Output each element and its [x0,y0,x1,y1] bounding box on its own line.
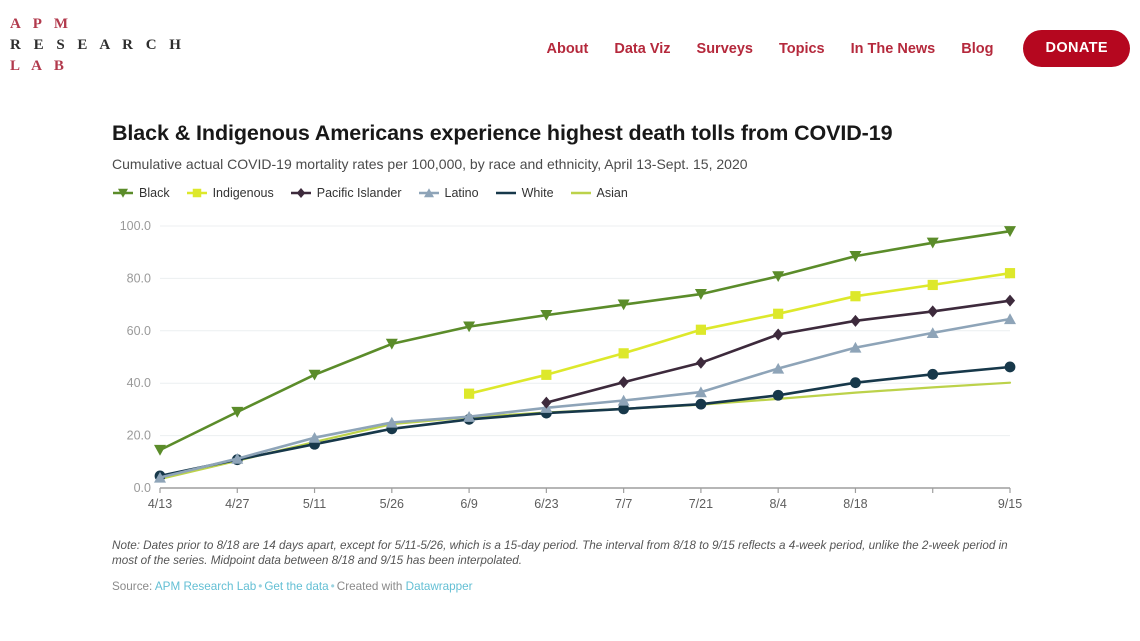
y-axis-tick-label: 100.0 [120,219,151,233]
series-line [160,319,1010,478]
source-link-datawrapper[interactable]: Datawrapper [406,580,473,593]
logo-line-apm: A P M [10,14,185,35]
x-axis-tick-label: 8/4 [769,497,786,511]
chart-subtitle: Cumulative actual COVID-19 mortality rat… [112,155,1028,173]
y-axis-tick-label: 80.0 [127,271,151,285]
data-point-marker [850,377,861,388]
legend-item-asian[interactable]: Asian [570,186,628,200]
legend-marker-triangle-down-icon [112,187,134,199]
x-axis-tick-label: 8/18 [843,497,867,511]
legend-marker-diamond-icon [290,187,312,199]
legend-label: White [522,186,554,200]
legend-label: Asian [597,186,628,200]
x-axis-tick-label: 5/11 [303,497,326,511]
chart-note: Note: Dates prior to 8/18 are 14 days ap… [112,538,1012,568]
legend-item-black[interactable]: Black [112,186,170,200]
x-axis-tick-label: 5/26 [380,497,404,511]
data-point-marker [619,348,629,358]
data-point-marker [696,325,706,335]
y-axis-tick-label: 0.0 [134,481,151,495]
series-line [160,383,1010,479]
legend-marker-none-icon [570,187,592,199]
x-axis-tick-label: 9/15 [998,497,1022,511]
nav-item-data-viz[interactable]: Data Viz [614,41,670,57]
data-point-marker [928,280,938,290]
chart-block: Black & Indigenous Americans experience … [112,120,1028,604]
main-navigation: About Data Viz Surveys Topics In The New… [547,30,1131,67]
source-prefix: Source: [112,580,152,593]
series-white [155,362,1016,482]
site-logo[interactable]: A P M R E S E A R C H L A B [10,14,185,77]
nav-item-about[interactable]: About [547,41,589,57]
data-point-marker [154,445,166,456]
data-point-marker [231,407,243,418]
x-axis-tick-label: 4/27 [225,497,249,511]
legend-item-indigenous[interactable]: Indigenous [186,186,274,200]
legend-label: Indigenous [213,186,274,200]
nav-item-surveys[interactable]: Surveys [697,41,753,57]
source-link-get-the-data[interactable]: Get the data [264,580,328,593]
x-axis-tick-label: 6/9 [460,497,477,511]
series-line [160,231,1010,450]
y-axis-tick-label: 40.0 [127,376,151,390]
source-link-apm[interactable]: APM Research Lab [155,580,256,593]
data-point-marker [309,370,321,381]
data-point-marker [850,291,860,301]
data-point-marker [927,369,938,380]
data-point-marker [464,389,474,399]
chart-source-line: Source: APM Research Lab•Get the data•Cr… [112,580,1028,593]
chart-title: Black & Indigenous Americans experience … [112,120,1028,146]
source-separator-2: • [329,580,337,593]
legend-label: Pacific Islander [317,186,402,200]
data-point-marker [773,390,784,401]
legend-marker-triangle-up-icon [418,187,440,199]
data-point-marker [850,315,860,327]
created-with-label: Created with [337,580,403,593]
legend-item-pacific-islander[interactable]: Pacific Islander [290,186,402,200]
data-point-marker [1005,268,1015,278]
legend-label: Latino [445,186,479,200]
data-point-marker [928,305,938,317]
chart-legend: BlackIndigenousPacific IslanderLatinoWhi… [112,186,1028,200]
logo-line-research: R E S E A R C H [10,35,185,56]
nav-item-in-the-news[interactable]: In The News [851,41,936,57]
data-point-marker [1005,295,1015,307]
x-axis-tick-label: 7/7 [615,497,632,511]
site-header: A P M R E S E A R C H L A B About Data V… [0,0,1140,92]
x-axis-tick-label: 4/13 [148,497,172,511]
nav-item-blog[interactable]: Blog [961,41,993,57]
data-point-marker [696,357,706,369]
data-point-marker [541,370,551,380]
data-point-marker [619,376,629,388]
data-point-marker [1005,362,1016,373]
line-chart-svg: 0.020.040.060.080.0100.04/134/275/115/26… [112,214,1028,524]
logo-line-lab: L A B [10,56,185,77]
data-point-marker [696,399,707,410]
data-point-marker [773,309,783,319]
legend-marker-square-icon [186,187,208,199]
chart-plot-area: 0.020.040.060.080.0100.04/134/275/115/26… [112,214,1028,524]
legend-marker-circle-icon [495,187,517,199]
legend-item-white[interactable]: White [495,186,554,200]
x-axis-tick-label: 6/23 [534,497,558,511]
series-asian [160,383,1010,479]
donate-button[interactable]: DONATE [1023,30,1130,67]
legend-label: Black [139,186,170,200]
y-axis-tick-label: 20.0 [127,429,151,443]
series-latino [154,313,1016,482]
legend-item-latino[interactable]: Latino [418,186,479,200]
x-axis-tick-label: 7/21 [689,497,713,511]
y-axis-tick-label: 60.0 [127,324,151,338]
nav-item-topics[interactable]: Topics [779,41,825,57]
data-point-marker [773,328,783,340]
